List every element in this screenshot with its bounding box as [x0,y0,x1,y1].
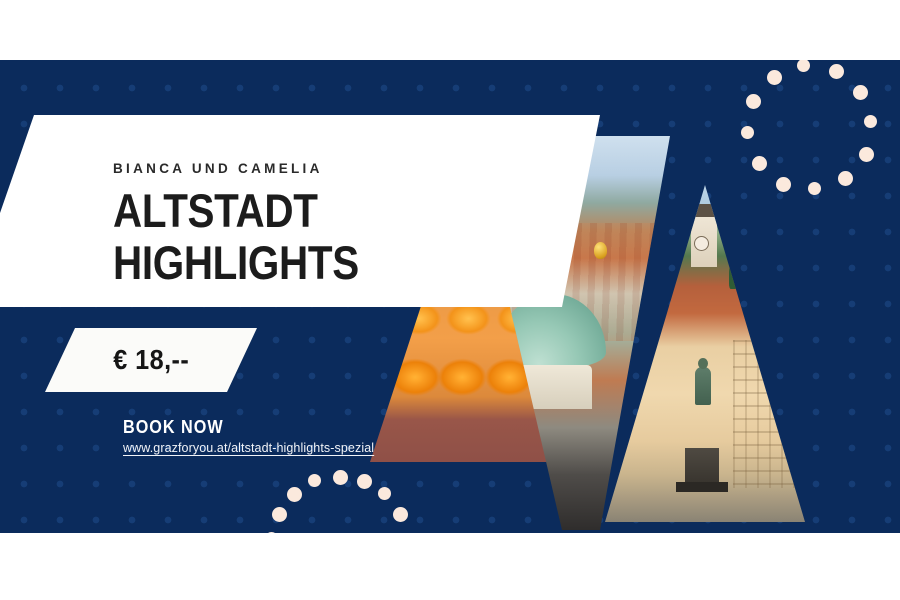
ring-dot-tr-8 [752,156,767,171]
arc-dot-bl-4 [333,470,348,485]
price-badge: € 18,-- [45,328,257,392]
baroque-facade-texture [733,340,805,488]
page-title: ALTSTADT HIGHLIGHTS [113,185,359,289]
navy-artboard: BIANCA UND CAMELIA ALTSTADT HIGHLIGHTS €… [0,60,900,533]
booking-url-link[interactable]: www.grazforyou.at/altstadt-highlights-sp… [123,441,374,455]
gold-finial-icon [594,242,607,259]
eyebrow-text: BIANCA UND CAMELIA [113,161,323,176]
book-now-block[interactable]: BOOK NOW www.grazforyou.at/altstadt-high… [123,417,374,455]
ring-dot-tr-4 [859,147,874,162]
arc-dot-bl-2 [287,487,302,502]
ring-dot-tr-5 [838,171,853,186]
ring-dot-tr-10 [746,94,761,109]
ring-dot-tr-9 [741,126,754,139]
bronze-statue-icon [695,367,711,405]
letterbox-top [0,0,900,60]
arc-dot-bl-7 [393,507,408,522]
ring-dot-tr-1 [829,64,844,79]
ring-dot-tr-11 [767,70,782,85]
ring-dot-tr-0 [797,60,810,72]
letterbox-bottom [0,533,900,600]
poster-canvas: BIANCA UND CAMELIA ALTSTADT HIGHLIGHTS €… [0,0,900,600]
ring-dot-tr-7 [776,177,791,192]
arc-dot-bl-5 [357,474,372,489]
ring-dot-tr-3 [864,115,877,128]
ring-dot-tr-2 [853,85,868,100]
clock-face-icon [694,236,709,251]
arc-dot-bl-6 [378,487,391,500]
fountain-pedestal [685,448,719,484]
arc-dot-bl-3 [308,474,321,487]
arc-dot-bl-1 [272,507,287,522]
cypress-tree-icon-2 [745,269,754,294]
cypress-tree-icon [729,259,738,289]
ring-dot-tr-6 [808,182,821,195]
book-now-label: BOOK NOW [123,417,349,438]
price-value: € 18,-- [113,344,189,376]
